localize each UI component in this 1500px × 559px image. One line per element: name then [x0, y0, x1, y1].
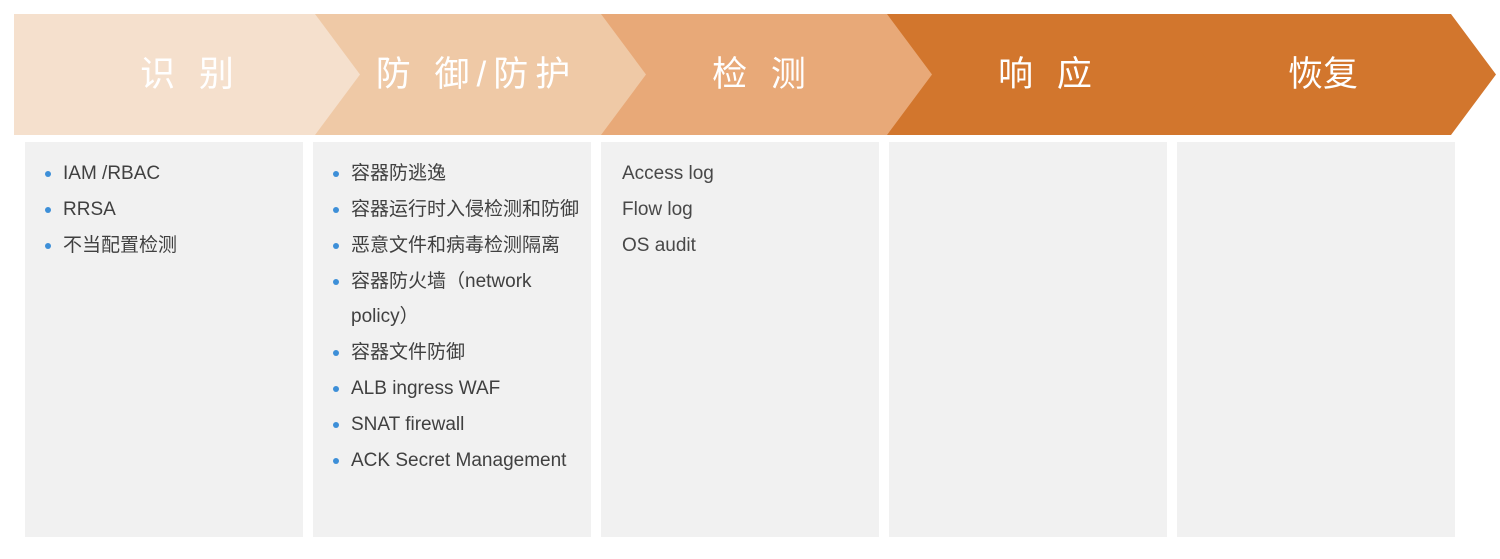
list-item: OS audit — [611, 228, 869, 263]
panel-stage-recover — [1177, 142, 1455, 537]
list-item: IAM /RBAC — [35, 156, 293, 191]
panel-list-identify: IAM /RBACRRSA不当配置检测 — [35, 156, 293, 263]
list-item: 容器防逃逸 — [323, 156, 581, 191]
list-item: 容器文件防御 — [323, 335, 581, 370]
list-item: Flow log — [611, 192, 869, 227]
panel-list-detect: Access logFlow logOS audit — [611, 156, 869, 263]
chevron-stage-identify[interactable]: 识 别 — [14, 14, 360, 135]
list-item: RRSA — [35, 192, 293, 227]
panel-stage-respond — [889, 142, 1167, 537]
list-item: 恶意文件和病毒检测隔离 — [323, 228, 581, 263]
stage-chevron-band: 识 别防 御/防护检 测响 应恢复 — [0, 14, 1500, 135]
panel-list-protect: 容器防逃逸容器运行时入侵检测和防御恶意文件和病毒检测隔离容器防火墙（networ… — [323, 156, 581, 478]
list-item: ACK Secret Management — [323, 443, 581, 478]
list-item: 容器运行时入侵检测和防御 — [323, 192, 581, 227]
list-item: 不当配置检测 — [35, 228, 293, 263]
list-item: SNAT firewall — [323, 407, 581, 442]
stage-panels-row: IAM /RBACRRSA不当配置检测容器防逃逸容器运行时入侵检测和防御恶意文件… — [0, 142, 1500, 537]
panel-stage-detect: Access logFlow logOS audit — [601, 142, 879, 537]
security-framework-diagram: 识 别防 御/防护检 测响 应恢复 IAM /RBACRRSA不当配置检测容器防… — [0, 0, 1500, 559]
list-item: ALB ingress WAF — [323, 371, 581, 406]
chevron-label-identify: 识 别 — [14, 57, 360, 92]
panel-stage-protect: 容器防逃逸容器运行时入侵检测和防御恶意文件和病毒检测隔离容器防火墙（networ… — [313, 142, 591, 537]
list-item: Access log — [611, 156, 869, 191]
panel-stage-identify: IAM /RBACRRSA不当配置检测 — [25, 142, 303, 537]
list-item: 容器防火墙（network policy） — [323, 264, 581, 334]
